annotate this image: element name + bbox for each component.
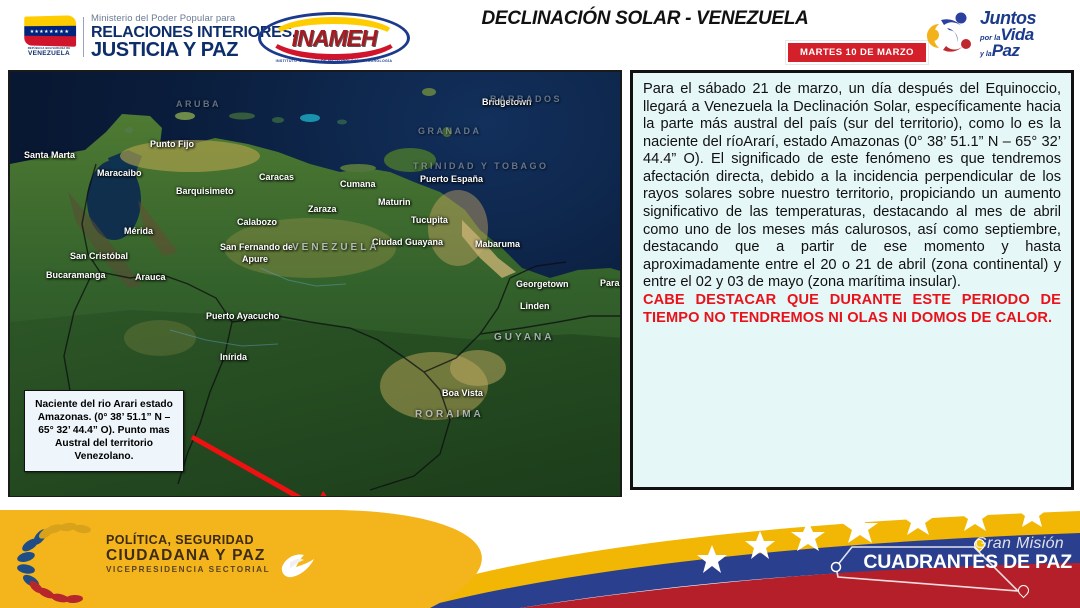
juntos-people-icon: [925, 8, 981, 58]
venezuela-flag-icon: ★★★★★★★★ REPÚBLICA BOLIVARIANA DE VENEZU…: [22, 16, 76, 57]
inameh-wordmark: INAMEH: [258, 25, 410, 52]
inameh-logo: INAMEH INSTITUTO NACIONAL DE METEOROLOGÍ…: [258, 12, 410, 64]
juntos-line-5: Paz: [992, 41, 1020, 60]
ministry-logo: ★★★★★★★★ REPÚBLICA BOLIVARIANA DE VENEZU…: [22, 14, 296, 60]
juntos-por-la-vida-logo: Juntos por laVida y laPaz: [925, 8, 1075, 62]
laurel-wreath-icon: [14, 519, 114, 605]
logo-divider: [83, 17, 84, 57]
politica-line-1: POLÍTICA, SEGURIDAD: [106, 533, 254, 547]
flag-caption: VENEZUELA: [28, 50, 70, 57]
description-panel: Para el sábado 21 de marzo, un día despu…: [630, 70, 1074, 490]
politica-seguridad-logo: POLÍTICA, SEGURIDAD CIUDADANA Y PAZ VICE…: [14, 519, 314, 605]
page-header: ★★★★★★★★ REPÚBLICA BOLIVARIANA DE VENEZU…: [0, 0, 1080, 68]
panel-body-text: Para el sábado 21 de marzo, un día despu…: [643, 81, 1061, 292]
satellite-map[interactable]: ARUBABridgetownBARBADOSGRANADATRINIDAD Y…: [8, 70, 622, 498]
cuadrantes-de-paz-logo: Gran Misión CUADRANTES DE PAZ: [822, 535, 1072, 597]
page-footer: POLÍTICA, SEGURIDAD CIUDADANA Y PAZ VICE…: [0, 497, 1080, 608]
callout-box: Naciente del rio Arari estado Amazonas. …: [24, 390, 184, 472]
politica-line-2: CIUDADANA Y PAZ: [106, 547, 266, 565]
juntos-line-4: y la: [980, 52, 992, 59]
date-badge: MARTES 10 DE MARZO: [786, 41, 928, 64]
cuadrantes-line-2: CUADRANTES DE PAZ: [863, 551, 1072, 574]
dove-icon: [276, 549, 316, 583]
inameh-tagline: INSTITUTO NACIONAL DE METEOROLOGÍA E HID…: [258, 59, 410, 63]
politica-line-3: VICEPRESIDENCIA SECTORIAL: [106, 565, 270, 574]
page-title: DECLINACIÓN SOLAR - VENEZUELA: [430, 8, 860, 30]
juntos-line-2: por la: [980, 34, 1000, 41]
panel-highlight-text: CABE DESTACAR QUE DURANTE ESTE PERIODO D…: [643, 292, 1061, 327]
